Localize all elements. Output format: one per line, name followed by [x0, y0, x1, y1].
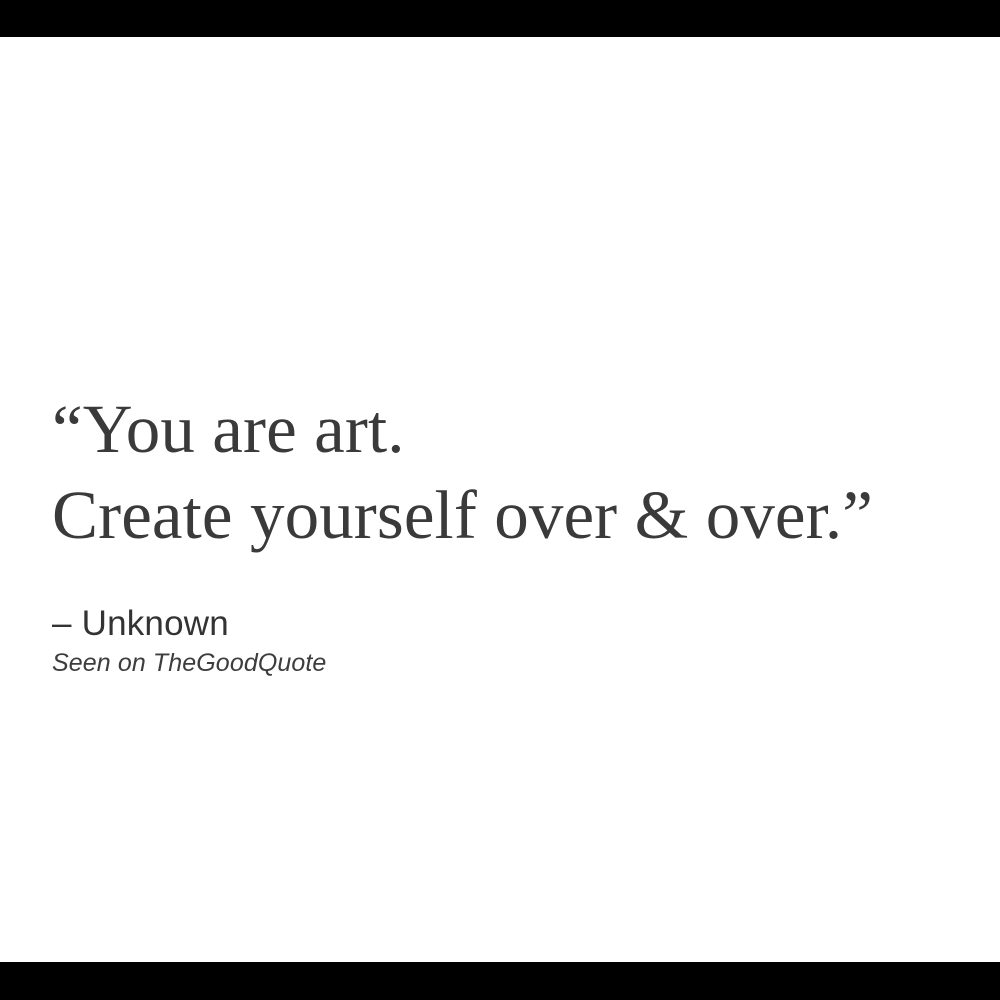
quote-source: Seen on TheGoodQuote [52, 648, 952, 678]
letterbox-bar-top [0, 0, 1000, 37]
attribution-block: – Unknown Seen on TheGoodQuote [52, 604, 952, 678]
quote-line-1: “You are art. [52, 386, 952, 472]
quote-content: “You are art. Create yourself over & ove… [52, 386, 952, 678]
quote-author: – Unknown [52, 604, 952, 644]
quote-card: “You are art. Create yourself over & ove… [0, 0, 1000, 1000]
letterbox-bar-bottom [0, 962, 1000, 1000]
quote-line-2: Create yourself over & over.” [52, 472, 952, 558]
